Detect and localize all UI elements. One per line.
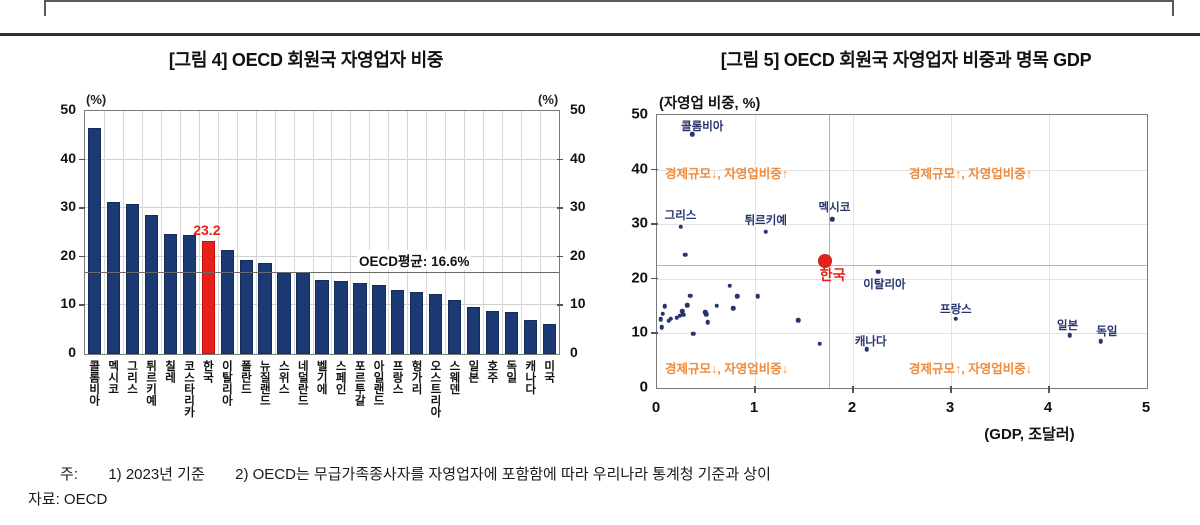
scatter-y-tick: 30 <box>622 215 648 232</box>
bar-x-label: 튀르키예 <box>144 360 156 406</box>
bar <box>429 294 442 354</box>
bar-x-label: 스페인 <box>334 360 346 395</box>
scatter-point-label: 그리스 <box>665 207 697 223</box>
bar <box>296 272 309 354</box>
bar <box>315 280 328 354</box>
scatter-point <box>683 253 688 258</box>
scatter-point-labeled <box>764 230 769 235</box>
top-rule-left-tick <box>44 0 46 16</box>
bar <box>126 204 139 354</box>
bar-gridline-vertical <box>502 111 503 354</box>
bar <box>448 300 461 354</box>
scatter-x-tick: 5 <box>1142 399 1150 416</box>
bar-gridline-vertical <box>313 111 314 354</box>
bar-gridline <box>85 159 559 160</box>
section-divider <box>0 33 1200 36</box>
bar-x-label: 아일랜드 <box>372 360 384 406</box>
bar-x-label: 그리스 <box>125 360 137 395</box>
bar-y-tick-right: 40 <box>570 150 596 166</box>
scatter-point <box>661 311 666 316</box>
bar-unit-left: (%) <box>86 92 106 107</box>
bar <box>467 307 480 354</box>
scatter-point-label: 일본 <box>1057 317 1078 333</box>
scatter-y-axis-title: (자영업 비중, %) <box>659 92 760 113</box>
scatter-point <box>706 320 711 325</box>
scatter-x-tick: 1 <box>750 399 758 416</box>
scatter-x-tick: 4 <box>1044 399 1052 416</box>
scatter-point <box>659 317 664 322</box>
scatter-point <box>756 294 761 299</box>
scatter-point <box>715 303 720 308</box>
bar-value-label-korea: 23.2 <box>193 222 220 238</box>
bar <box>88 128 101 354</box>
bar <box>486 311 499 354</box>
scatter-point-label: 튀르키예 <box>745 212 787 228</box>
scatter-point-labeled <box>1099 339 1104 344</box>
bar <box>334 281 347 354</box>
bar-y-tick-right: 50 <box>570 101 596 117</box>
bar <box>107 202 120 354</box>
scatter-reference-line-vertical <box>829 115 830 388</box>
quadrant-note-top-left: 경제규모↓, 자영업비중↑ <box>665 163 788 182</box>
bar-gridline-vertical <box>331 111 332 354</box>
bar-x-label: 미국 <box>542 360 554 383</box>
bar-gridline-vertical <box>464 111 465 354</box>
bar-y-tick-left: 10 <box>50 295 76 311</box>
scatter-y-tick: 50 <box>622 106 648 123</box>
bar-tick-mark <box>557 256 563 258</box>
figure-page: [그림 4] OECD 회원국 자영업자 비중 (%) (%) 23.2OECD… <box>0 0 1200 525</box>
bar-x-label: 뉴질랜드 <box>258 360 270 406</box>
bar <box>183 235 196 354</box>
bar-x-label: 프랑스 <box>391 360 403 395</box>
scatter-point-labeled <box>830 217 835 222</box>
bar <box>391 290 404 354</box>
scatter-point <box>817 342 822 347</box>
scatter-y-tick-mark <box>651 278 658 280</box>
top-rule <box>44 0 1174 2</box>
bar-x-label: 스웨덴 <box>448 360 460 395</box>
bar-korea <box>202 241 215 354</box>
bar-x-label: 콜롬비아 <box>87 360 99 406</box>
scatter-point-labeled <box>876 269 881 274</box>
bar-tick-mark <box>79 207 85 209</box>
bar-gridline <box>85 207 559 208</box>
scatter-point <box>660 325 665 330</box>
scatter-y-tick: 40 <box>622 160 648 177</box>
footnote-2: 2) OECD는 무급가족종사자를 자영업자에 포함함에 따라 우리나라 통계청… <box>235 466 771 483</box>
scatter-plot-area: 경제규모↓, 자영업비중↑경제규모↑, 자영업비중↑경제규모↓, 자영업비중↓경… <box>656 114 1148 389</box>
bar-gridline-vertical <box>521 111 522 354</box>
oecd-average-line <box>85 272 559 273</box>
bar <box>221 250 234 354</box>
scatter-point <box>674 315 679 320</box>
scatter-x-tick: 2 <box>848 399 856 416</box>
bar-gridline-vertical <box>104 111 105 354</box>
bar-unit-right: (%) <box>538 92 558 107</box>
bar-x-label: 네덜란드 <box>296 360 308 406</box>
scatter-point-labeled <box>954 316 959 321</box>
scatter-y-tick: 20 <box>622 269 648 286</box>
scatter-gridline-vertical <box>853 115 854 388</box>
bar-tick-mark <box>557 159 563 161</box>
bar-x-label: 멕시코 <box>106 360 118 395</box>
scatter-gridline-horizontal <box>657 224 1147 225</box>
bar-gridline-vertical <box>275 111 276 354</box>
bar-plot-area: 23.2OECD평균: 16.6% <box>84 110 560 355</box>
scatter-x-tick-mark <box>852 386 854 393</box>
figure-4-title: [그림 4] OECD 회원국 자영업자 비중 <box>0 40 612 72</box>
scatter-point-label: 콜롬비아 <box>681 118 723 134</box>
bar-x-label: 캐나다 <box>523 360 535 395</box>
bar-x-label: 칠레 <box>163 360 175 383</box>
bar-y-tick-right: 30 <box>570 198 596 214</box>
scatter-point-label: 캐나다 <box>855 333 887 349</box>
bar <box>258 263 271 354</box>
scatter-point <box>663 304 668 309</box>
bar-gridline-vertical <box>540 111 541 354</box>
bar-x-axis-labels: 콜롬비아멕시코그리스튀르키예칠레코스타리카한국이탈리아폴란드뉴질랜드스위스네덜란… <box>84 358 560 452</box>
scatter-y-tick: 10 <box>622 324 648 341</box>
bar <box>372 285 385 354</box>
bar <box>240 260 253 354</box>
bar <box>524 320 537 355</box>
footnotes: 주: 1) 2023년 기준 2) OECD는 무급가족종사자를 자영업자에 포… <box>0 462 1200 512</box>
scatter-gridline-vertical <box>951 115 952 388</box>
scatter-gridline-vertical <box>755 115 756 388</box>
bar-gridline-vertical <box>237 111 238 354</box>
bar-chart: (%) (%) 23.2OECD평균: 16.6% 01020304050 01… <box>0 92 612 452</box>
scatter-y-tick: 0 <box>622 379 648 396</box>
bar-y-tick-left: 0 <box>50 344 76 360</box>
footnote-prefix: 주: <box>60 466 78 483</box>
scatter-point <box>688 293 693 298</box>
top-rule-right-tick <box>1172 0 1174 16</box>
bar-gridline-vertical <box>256 111 257 354</box>
bar-gridline-vertical <box>142 111 143 354</box>
bar-gridline-vertical <box>445 111 446 354</box>
bar-tick-mark <box>79 256 85 258</box>
bar-x-label: 포르투갈 <box>353 360 365 406</box>
bar-y-tick-left: 50 <box>50 101 76 117</box>
scatter-y-tick-mark <box>651 169 658 171</box>
bar-tick-mark <box>557 207 563 209</box>
bar-x-label: 호주 <box>485 360 497 383</box>
bar <box>410 292 423 354</box>
figure-4-panel: [그림 4] OECD 회원국 자영업자 비중 (%) (%) 23.2OECD… <box>0 40 612 460</box>
bar-gridline-vertical <box>294 111 295 354</box>
scatter-point-label: 한국 <box>820 265 846 285</box>
scatter-point <box>667 319 672 324</box>
scatter-point <box>691 332 696 337</box>
bar-y-tick-right: 10 <box>570 295 596 311</box>
bar-tick-mark <box>79 304 85 306</box>
bar-gridline-vertical <box>388 111 389 354</box>
scatter-point <box>796 318 801 323</box>
bar-gridline-vertical <box>180 111 181 354</box>
scatter-point-labeled <box>1067 333 1072 338</box>
footnote-1: 1) 2023년 기준 <box>108 466 204 483</box>
scatter-point <box>735 294 740 299</box>
scatter-x-tick-mark <box>1048 386 1050 393</box>
scatter-gridline-vertical <box>1049 115 1050 388</box>
bar <box>543 324 556 354</box>
scatter-x-tick: 0 <box>652 399 660 416</box>
bar-y-tick-right: 0 <box>570 344 596 360</box>
footnote-notes: 주: 1) 2023년 기준 2) OECD는 무급가족종사자를 자영업자에 포… <box>0 462 1200 487</box>
bar-x-label: 스위스 <box>277 360 289 395</box>
scatter-x-axis-title: (GDP, 조달러) <box>984 423 1074 444</box>
footnote-source: 자료: OECD <box>0 487 1200 512</box>
scatter-point <box>681 313 686 318</box>
figure-5-title: [그림 5] OECD 회원국 자영업자 비중과 명목 GDP <box>612 40 1200 72</box>
bar-y-tick-left: 40 <box>50 150 76 166</box>
bar-gridline-vertical <box>426 111 427 354</box>
scatter-point-label: 이탈리아 <box>863 276 905 292</box>
bar <box>164 234 177 354</box>
scatter-x-tick-mark <box>950 386 952 393</box>
bar-x-label: 헝가리 <box>410 360 422 395</box>
scatter-point <box>685 303 690 308</box>
bar-x-label: 일본 <box>466 360 478 383</box>
bar-y-tick-left: 30 <box>50 198 76 214</box>
scatter-point-label: 독일 <box>1096 323 1117 339</box>
scatter-reference-line-horizontal <box>657 265 1147 266</box>
scatter-point <box>704 312 709 317</box>
bar-y-tick-right: 20 <box>570 247 596 263</box>
scatter-y-tick-mark <box>651 332 658 334</box>
bar-gridline-vertical <box>123 111 124 354</box>
bar <box>505 312 518 354</box>
scatter-point <box>731 306 736 311</box>
scatter-y-tick-mark <box>651 223 658 225</box>
bar-y-tick-left: 20 <box>50 247 76 263</box>
scatter-point-labeled <box>678 225 683 230</box>
bar-gridline-vertical <box>161 111 162 354</box>
bar-x-label: 독일 <box>504 360 516 383</box>
bar-x-label: 한국 <box>201 360 213 383</box>
scatter-chart: (자영업 비중, %) 경제규모↓, 자영업비중↑경제규모↑, 자영업비중↑경제… <box>612 92 1200 462</box>
scatter-x-tick-mark <box>754 386 756 393</box>
bar-x-label: 폴란드 <box>239 360 251 395</box>
scatter-point-label: 프랑스 <box>940 301 972 317</box>
bar-gridline-vertical <box>350 111 351 354</box>
quadrant-note-bottom-left: 경제규모↓, 자영업비중↓ <box>665 358 788 377</box>
scatter-point-label: 멕시코 <box>819 199 851 215</box>
bar-x-label: 코스타리카 <box>182 360 194 418</box>
bar <box>277 272 290 354</box>
bar <box>145 215 158 354</box>
scatter-point <box>727 284 732 289</box>
bar-tick-mark <box>79 159 85 161</box>
figure-5-panel: [그림 5] OECD 회원국 자영업자 비중과 명목 GDP (자영업 비중,… <box>612 40 1200 460</box>
scatter-gridline-horizontal <box>657 333 1147 334</box>
scatter-x-tick: 3 <box>946 399 954 416</box>
bar-x-label: 벨기에 <box>315 360 327 395</box>
bar-gridline-vertical <box>407 111 408 354</box>
oecd-average-label: OECD평균: 16.6% <box>357 250 471 270</box>
bar <box>353 283 366 354</box>
bar-x-label: 오스트리아 <box>429 360 441 418</box>
bar-tick-mark <box>557 304 563 306</box>
bar-gridline-vertical <box>369 111 370 354</box>
quadrant-note-bottom-right: 경제규모↑, 자영업비중↓ <box>909 358 1032 377</box>
bar-x-label: 이탈리아 <box>220 360 232 406</box>
quadrant-note-top-right: 경제규모↑, 자영업비중↑ <box>909 163 1032 182</box>
bar-gridline-vertical <box>483 111 484 354</box>
